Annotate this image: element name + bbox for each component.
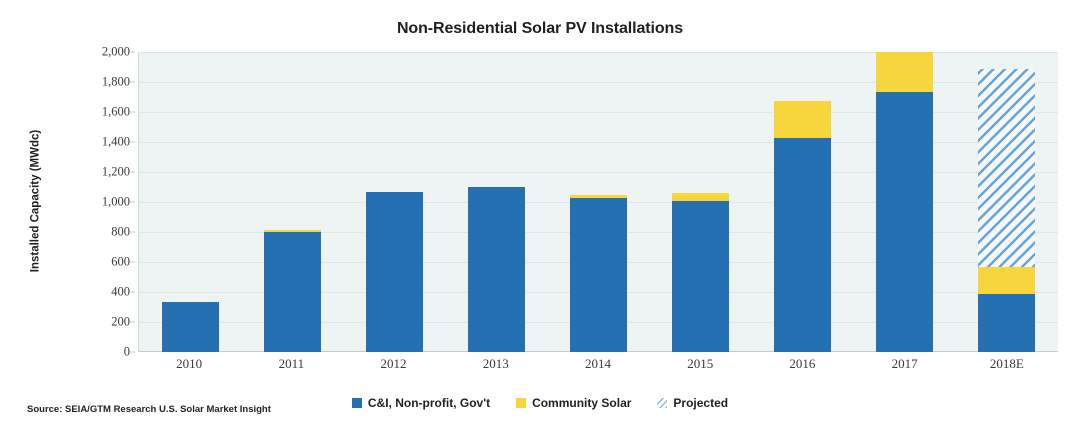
legend-item-community-solar[interactable]: Community Solar xyxy=(516,396,631,410)
chart-title: Non-Residential Solar PV Installations xyxy=(0,20,1080,38)
bar-stack[interactable] xyxy=(468,187,525,352)
y-axis-tick-mark xyxy=(130,52,135,53)
y-axis-tick-label: 400 xyxy=(68,285,130,300)
bar-segment-projected[interactable] xyxy=(978,69,1035,268)
legend-swatch-icon xyxy=(352,398,362,408)
bar-stack[interactable] xyxy=(876,52,933,352)
y-axis-tick-mark xyxy=(130,292,135,293)
y-axis-title: Installed Capacity (MWdc) xyxy=(24,46,46,356)
bar-group xyxy=(139,52,1058,352)
y-axis-tick-mark xyxy=(130,262,135,263)
bar-stack[interactable] xyxy=(570,195,627,352)
y-axis-tick-label: 1,200 xyxy=(68,165,130,180)
legend-swatch-icon xyxy=(516,398,526,408)
bar-stack[interactable] xyxy=(672,193,729,352)
bar-segment-ci-nonprofit-gov[interactable] xyxy=(468,187,525,352)
chart-container: Non-Residential Solar PV Installations I… xyxy=(0,0,1080,426)
bar-slot xyxy=(241,52,343,352)
bar-stack[interactable] xyxy=(162,302,219,352)
y-axis-tick-label: 1,600 xyxy=(68,105,130,120)
y-axis-tick-mark xyxy=(130,352,135,353)
bar-segment-ci-nonprofit-gov[interactable] xyxy=(774,138,831,353)
y-axis-tick-label: 1,000 xyxy=(68,195,130,210)
bar-segment-ci-nonprofit-gov[interactable] xyxy=(366,192,423,352)
x-axis-tick-label: 2014 xyxy=(547,356,649,380)
legend-swatch-icon xyxy=(657,398,667,408)
plot-area xyxy=(138,52,1058,352)
bar-segment-ci-nonprofit-gov[interactable] xyxy=(672,201,729,352)
y-axis-tick-label: 600 xyxy=(68,255,130,270)
y-axis-tick-mark xyxy=(130,112,135,113)
bar-stack[interactable] xyxy=(264,230,321,352)
y-axis-tick-label: 800 xyxy=(68,225,130,240)
bar-slot xyxy=(445,52,547,352)
legend-item-ci-nonprofit-gov[interactable]: C&I, Non-profit, Gov't xyxy=(352,396,490,410)
y-axis-tick-labels: 2,0001,8001,6001,4001,2001,0008006004002… xyxy=(60,52,130,352)
legend-label: Projected xyxy=(673,396,728,410)
legend-label: C&I, Non-profit, Gov't xyxy=(368,396,490,410)
y-axis-tick-mark xyxy=(130,232,135,233)
x-axis-tick-label: 2012 xyxy=(342,356,444,380)
x-axis-tick-labels: 201020112012201320142015201620172018E xyxy=(138,356,1058,380)
y-axis-tick-label: 200 xyxy=(68,315,130,330)
x-axis-tick-label: 2015 xyxy=(649,356,751,380)
bar-slot xyxy=(343,52,445,352)
bar-segment-community-solar[interactable] xyxy=(876,52,933,92)
x-axis-tick-label: 2011 xyxy=(240,356,342,380)
source-note: Source: SEIA/GTM Research U.S. Solar Mar… xyxy=(27,404,271,415)
bar-segment-community-solar[interactable] xyxy=(978,267,1035,293)
y-axis-tick-mark xyxy=(130,202,135,203)
bar-segment-community-solar[interactable] xyxy=(774,101,831,138)
y-axis-tick-label: 1,400 xyxy=(68,135,130,150)
x-axis-tick-label: 2010 xyxy=(138,356,240,380)
bar-slot xyxy=(650,52,752,352)
bar-segment-ci-nonprofit-gov[interactable] xyxy=(264,232,321,352)
x-axis-tick-label: 2018E xyxy=(956,356,1058,380)
bar-slot xyxy=(547,52,649,352)
y-axis-tick-label: 2,000 xyxy=(68,45,130,60)
x-axis-tick-label: 2016 xyxy=(751,356,853,380)
bar-slot xyxy=(752,52,854,352)
y-axis-tick-mark xyxy=(130,322,135,323)
x-axis-tick-label: 2017 xyxy=(854,356,956,380)
y-axis-tick-mark xyxy=(130,82,135,83)
y-axis-tick-mark xyxy=(130,172,135,173)
bar-segment-ci-nonprofit-gov[interactable] xyxy=(162,302,219,352)
bar-stack[interactable] xyxy=(978,69,1035,353)
y-axis-tick-label: 0 xyxy=(68,345,130,360)
y-axis-tick-mark xyxy=(130,142,135,143)
bar-segment-ci-nonprofit-gov[interactable] xyxy=(570,198,627,352)
bar-segment-ci-nonprofit-gov[interactable] xyxy=(978,294,1035,353)
bar-segment-ci-nonprofit-gov[interactable] xyxy=(876,92,933,352)
bar-segment-community-solar[interactable] xyxy=(672,193,729,201)
bar-stack[interactable] xyxy=(366,192,423,352)
legend-label: Community Solar xyxy=(532,396,631,410)
bar-slot xyxy=(139,52,241,352)
legend-item-projected[interactable]: Projected xyxy=(657,396,728,410)
y-axis-title-label: Installed Capacity (MWdc) xyxy=(29,130,41,273)
bar-slot xyxy=(956,52,1058,352)
bar-stack[interactable] xyxy=(774,101,831,352)
x-axis-tick-label: 2013 xyxy=(445,356,547,380)
bar-slot xyxy=(854,52,956,352)
y-axis-tick-label: 1,800 xyxy=(68,75,130,90)
